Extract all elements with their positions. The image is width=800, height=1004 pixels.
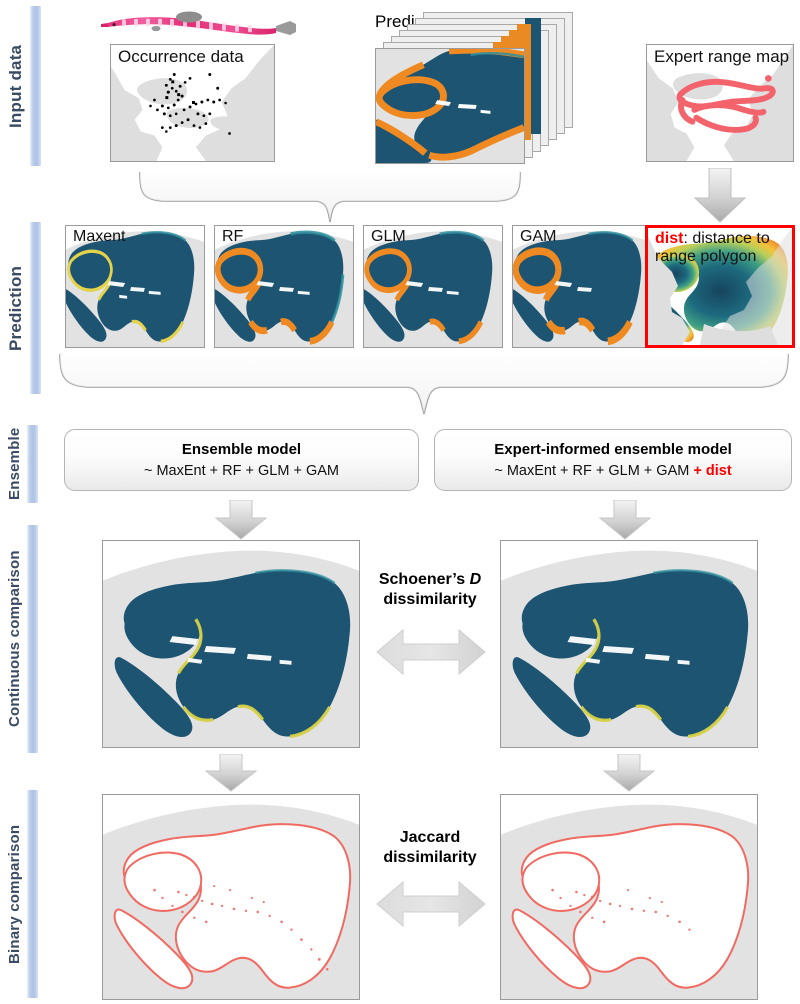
metric-line2: dissimilarity: [383, 849, 476, 866]
binary-right-artwork: [501, 795, 757, 999]
dist-accent-text: dist: [655, 230, 683, 247]
row-label-input-data: Input data: [6, 6, 41, 166]
arrow-continuous-to-binary-right: [601, 754, 657, 792]
double-arrow-binary: [375, 880, 487, 928]
connector-input-brace: [130, 168, 530, 226]
row-label-continuous-comparison: Continuous comparison: [6, 525, 38, 753]
continuous-right-artwork: [501, 541, 757, 747]
metric-line2: dissimilarity: [383, 591, 476, 608]
dist-line2-text: range polygon: [655, 248, 756, 265]
continuous-left-artwork: [103, 541, 359, 747]
row-label-text: Binary comparison: [6, 790, 23, 998]
panel-prediction-glm[interactable]: GLM: [363, 225, 503, 348]
dist-rest-text: : distance to: [683, 230, 769, 247]
panel-prediction-maxent[interactable]: Maxent: [65, 225, 205, 348]
panel-prediction-gam[interactable]: GAM: [512, 225, 652, 348]
caption-jaccard: Jaccard dissimilarity: [368, 828, 492, 867]
panel-label: Expert range map: [654, 47, 789, 66]
metric-italic: D: [470, 571, 482, 588]
arrow-continuous-to-binary-left: [203, 754, 259, 792]
row-label-ensemble: Ensemble: [6, 425, 38, 503]
caption-schoeners-d: Schoener’s D dissimilarity: [368, 570, 492, 609]
panel-occurrence-data[interactable]: Occurrence data: [110, 44, 275, 162]
formula-accent-dist: + dist: [693, 463, 731, 479]
ensemble-box-expert-informed[interactable]: Expert-informed ensemble model ~ MaxEnt …: [434, 429, 792, 491]
panel-expert-range-map[interactable]: Expert range map: [646, 44, 794, 162]
ensemble-formula: ~ MaxEnt + RF + GLM + GAM + dist: [494, 463, 731, 479]
arrow-expert-to-dist: [692, 168, 748, 224]
row-label-text: Input data: [6, 6, 26, 166]
panel-label-dist: dist: distance to range polygon: [655, 230, 791, 266]
panel-label: Occurrence data: [118, 47, 244, 66]
row-label-bar: [27, 425, 38, 503]
ensemble-title: Expert-informed ensemble model: [494, 441, 732, 458]
ensemble-box-standard[interactable]: Ensemble model ~ MaxEnt + RF + GLM + GAM: [64, 429, 419, 491]
panel-label: GLM: [371, 228, 406, 246]
row-label-text: Ensemble: [6, 425, 23, 503]
ensemble-formula: ~ MaxEnt + RF + GLM + GAM: [144, 463, 339, 479]
row-label-binary-comparison: Binary comparison: [6, 790, 38, 998]
row-label-bar: [30, 6, 41, 166]
arrow-ensemble-to-continuous-left: [213, 500, 269, 540]
panel-continuous-expert-ensemble-map[interactable]: [500, 540, 758, 748]
connector-prediction-brace: [52, 352, 796, 420]
row-label-text: Prediction: [6, 222, 26, 394]
row-label-prediction: Prediction: [6, 222, 41, 394]
panel-label: RF: [222, 228, 243, 246]
ensemble-title: Ensemble model: [182, 441, 301, 458]
panel-label: Maxent: [73, 228, 125, 246]
row-label-text: Continuous comparison: [6, 525, 23, 753]
binary-left-artwork: [103, 795, 359, 999]
panel-label: GAM: [520, 228, 556, 246]
arrow-ensemble-to-continuous-right: [597, 500, 653, 540]
panel-prediction-rf[interactable]: RF: [214, 225, 354, 348]
pipefish-illustration: [100, 4, 305, 40]
row-label-bar: [27, 525, 38, 753]
panel-binary-ensemble-map[interactable]: [102, 794, 360, 1000]
row-label-bar: [27, 790, 38, 998]
panel-continuous-ensemble-map[interactable]: [102, 540, 360, 748]
predictor-front-raster: [375, 48, 525, 164]
double-arrow-continuous: [375, 628, 487, 676]
panel-binary-expert-ensemble-map[interactable]: [500, 794, 758, 1000]
metric-line1: Schoener’s: [379, 571, 470, 588]
panel-predictors[interactable]: Predictors: [375, 12, 575, 164]
metric-line1: Jaccard: [400, 829, 461, 846]
row-label-bar: [30, 222, 41, 394]
panel-prediction-dist[interactable]: dist: distance to range polygon: [645, 225, 795, 348]
